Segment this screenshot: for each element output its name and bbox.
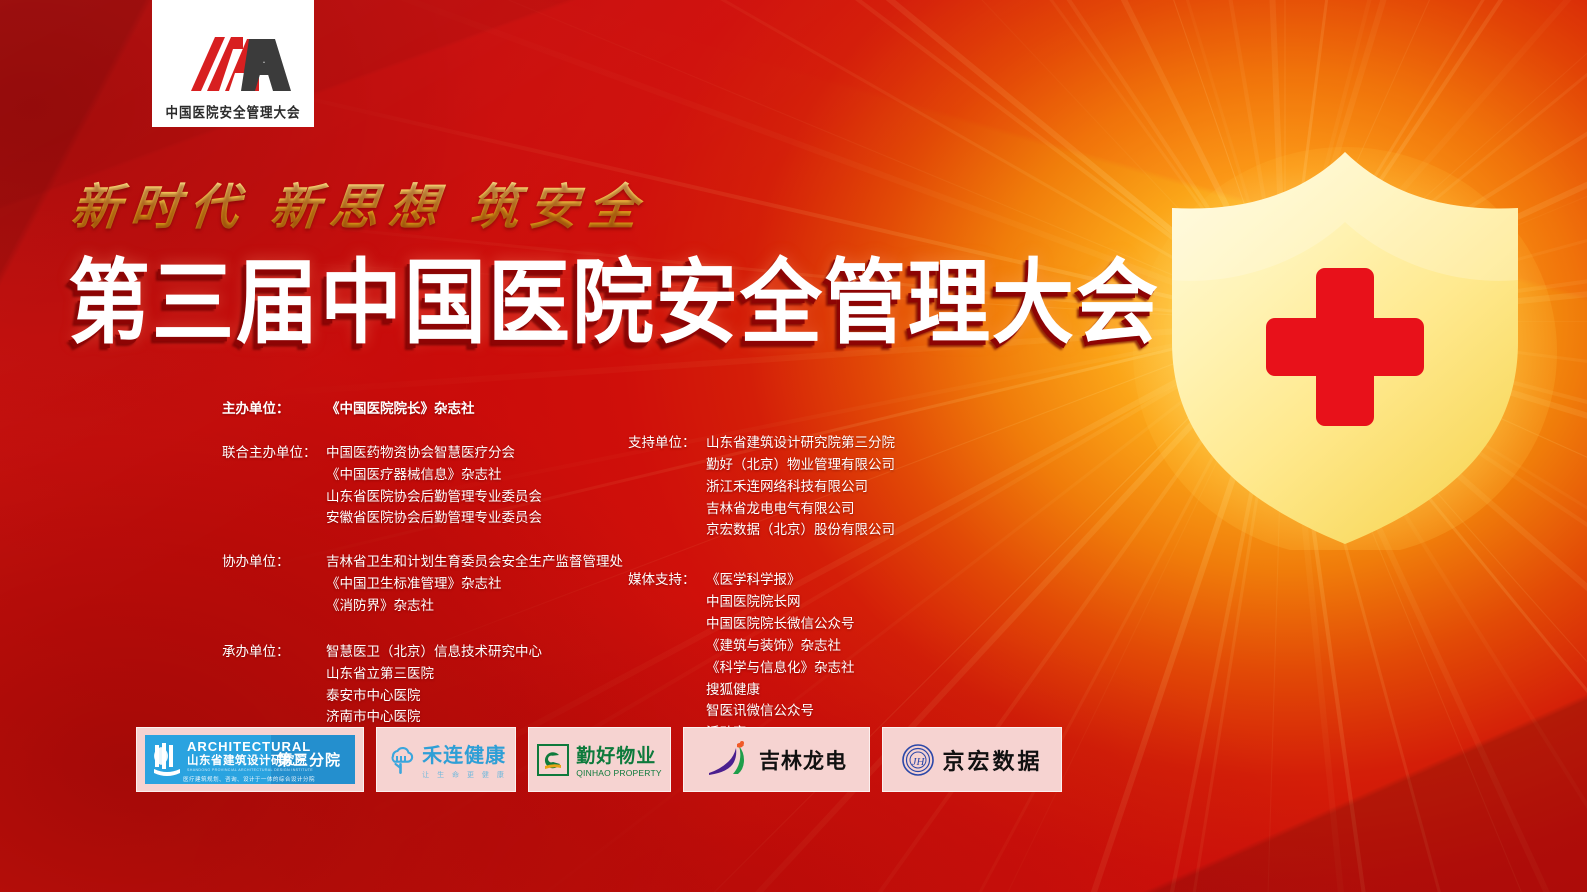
credit-value: 中国医院院长微信公众号 bbox=[706, 613, 968, 635]
credit-value: 《中国卫生标准管理》杂志社 bbox=[326, 573, 642, 595]
credit-row: 媒体支持：《医学科学报》中国医院院长网中国医院院长微信公众号《建筑与装饰》杂志社… bbox=[628, 569, 968, 744]
credit-value: 浙江禾连网络科技有限公司 bbox=[706, 476, 968, 498]
conference-logo-caption: 中国医院安全管理大会 bbox=[165, 101, 300, 122]
credit-label: 协办单位： bbox=[222, 551, 326, 573]
cloud-tree-icon bbox=[385, 743, 415, 777]
qinhao-property-name: 勤好物业 bbox=[576, 741, 662, 768]
banner-title: 第三届中国医院安全管理大会 bbox=[68, 228, 1160, 361]
credit-block: 媒体支持：《医学科学报》中国医院院长网中国医院院长微信公众号《建筑与装饰》杂志社… bbox=[628, 569, 968, 744]
credit-value: 智慧医卫（北京）信息技术研究中心 bbox=[326, 641, 642, 663]
credit-values: 智慧医卫（北京）信息技术研究中心山东省立第三医院泰安市中心医院济南市中心医院 bbox=[326, 641, 642, 728]
credit-label: 支持单位： bbox=[628, 432, 706, 454]
credits-right-column: 支持单位：山东省建筑设计研究院第三分院勤好（北京）物业管理有限公司浙江禾连网络科… bbox=[628, 432, 968, 762]
credit-value: 京宏数据（北京）股份有限公司 bbox=[706, 519, 968, 541]
credit-value: 搜狐健康 bbox=[706, 679, 968, 701]
sponsor-logo-qinhao-property: 勤好物业 QINHAO PROPERTY bbox=[528, 727, 671, 792]
credit-value: 泰安市中心医院 bbox=[326, 685, 642, 707]
credit-block: 承办单位：智慧医卫（北京）信息技术研究中心山东省立第三医院泰安市中心医院济南市中… bbox=[222, 641, 642, 728]
credit-value: 山东省医院协会后勤管理专业委员会 bbox=[326, 486, 642, 508]
credit-value: 济南市中心医院 bbox=[326, 706, 642, 728]
jilin-longdian-name: 吉林龙电 bbox=[759, 745, 847, 775]
credit-value: 《建筑与装饰》杂志社 bbox=[706, 635, 968, 657]
credit-row: 支持单位：山东省建筑设计研究院第三分院勤好（北京）物业管理有限公司浙江禾连网络科… bbox=[628, 432, 968, 541]
svg-text:第三分院: 第三分院 bbox=[277, 751, 341, 769]
credit-block: 支持单位：山东省建筑设计研究院第三分院勤好（北京）物业管理有限公司浙江禾连网络科… bbox=[628, 432, 968, 541]
credit-values: 《医学科学报》中国医院院长网中国医院院长微信公众号《建筑与装饰》杂志社《科学与信… bbox=[706, 569, 968, 744]
credit-row: 联合主办单位：中国医药物资协会智慧医疗分会《中国医疗器械信息》杂志社山东省医院协… bbox=[222, 442, 642, 529]
credit-label: 联合主办单位： bbox=[222, 442, 326, 464]
phoenix-mark-icon bbox=[706, 740, 752, 780]
jinghong-data-name: 京宏数据 bbox=[942, 744, 1042, 776]
credit-block: 主办单位：《中国医院院长》杂志社 bbox=[222, 398, 642, 420]
credits-left-column: 主办单位：《中国医院院长》杂志社联合主办单位：中国医药物资协会智慧医疗分会《中国… bbox=[222, 398, 642, 746]
jh-monogram-icon: JH bbox=[901, 743, 935, 777]
credit-block: 协办单位：吉林省卫生和计划生育委员会安全生产监督管理处《中国卫生标准管理》杂志社… bbox=[222, 551, 642, 617]
credit-values: 中国医药物资协会智慧医疗分会《中国医疗器械信息》杂志社山东省医院协会后勤管理专业… bbox=[326, 442, 642, 529]
credit-row: 承办单位：智慧医卫（北京）信息技术研究中心山东省立第三医院泰安市中心医院济南市中… bbox=[222, 641, 642, 728]
conference-banner: 中国医院安全管理大会 新时代 新思想 筑安全 第三届中国医院安全管理大会 主办单… bbox=[0, 0, 1587, 892]
credit-value: 中国医药物资协会智慧医疗分会 bbox=[326, 442, 642, 464]
sponsor-logo-strip: ARCHITECTURAL 山东省建筑设计研究院 SHANDONG PROVIN… bbox=[136, 727, 1062, 792]
credit-value: 《中国医疗器械信息》杂志社 bbox=[326, 464, 642, 486]
svg-text:JH: JH bbox=[912, 756, 926, 768]
conference-logo-badge: 中国医院安全管理大会 bbox=[152, 0, 314, 127]
credit-value: 《医学科学报》 bbox=[706, 569, 968, 591]
credit-values: 吉林省卫生和计划生育委员会安全生产监督管理处《中国卫生标准管理》杂志社《消防界》… bbox=[326, 551, 642, 617]
architectural-institute-icon: ARCHITECTURAL 山东省建筑设计研究院 SHANDONG PROVIN… bbox=[145, 735, 355, 784]
helian-health-slogan: 让 生 命 更 健 康 bbox=[422, 770, 507, 780]
sponsor-logo-shandong-architectural: ARCHITECTURAL 山东省建筑设计研究院 SHANDONG PROVIN… bbox=[136, 727, 364, 792]
credit-value: 山东省建筑设计研究院第三分院 bbox=[706, 432, 968, 454]
qinhao-mark-icon bbox=[537, 744, 569, 776]
credit-value: 《中国医院院长》杂志社 bbox=[326, 398, 642, 420]
credit-value: 安徽省医院协会后勤管理专业委员会 bbox=[326, 507, 642, 529]
sponsor-logo-jilin-longdian: 吉林龙电 bbox=[683, 727, 870, 792]
credit-value: 吉林省龙电电气有限公司 bbox=[706, 498, 968, 520]
credit-value: 吉林省卫生和计划生育委员会安全生产监督管理处 bbox=[326, 551, 642, 573]
credit-value: 勤好（北京）物业管理有限公司 bbox=[706, 454, 968, 476]
credit-label: 主办单位： bbox=[222, 398, 326, 420]
credit-value: 智医讯微信公众号 bbox=[706, 700, 968, 722]
credit-value: 《消防界》杂志社 bbox=[326, 595, 642, 617]
credit-value: 中国医院院长网 bbox=[706, 591, 968, 613]
qinhao-property-name-en: QINHAO PROPERTY bbox=[576, 768, 662, 778]
credit-values: 《中国医院院长》杂志社 bbox=[326, 398, 642, 420]
sponsor-logo-jinghong-data: JH 京宏数据 bbox=[882, 727, 1062, 792]
helian-health-name: 禾连健康 bbox=[422, 739, 507, 768]
credit-label: 承办单位： bbox=[222, 641, 326, 663]
credit-row: 协办单位：吉林省卫生和计划生育委员会安全生产监督管理处《中国卫生标准管理》杂志社… bbox=[222, 551, 642, 617]
shield-with-red-cross-icon bbox=[1130, 130, 1560, 550]
aa-monogram-icon bbox=[163, 27, 303, 99]
credit-value: 山东省立第三医院 bbox=[326, 663, 642, 685]
credit-value: 《科学与信息化》杂志社 bbox=[706, 657, 968, 679]
svg-text:医疗建筑规划、咨询、设计于一体的综合设计分院: 医疗建筑规划、咨询、设计于一体的综合设计分院 bbox=[183, 775, 315, 783]
credit-row: 主办单位：《中国医院院长》杂志社 bbox=[222, 398, 642, 420]
credit-label: 媒体支持： bbox=[628, 569, 706, 591]
svg-text:ARCHITECTURAL: ARCHITECTURAL bbox=[187, 739, 311, 754]
credit-values: 山东省建筑设计研究院第三分院勤好（北京）物业管理有限公司浙江禾连网络科技有限公司… bbox=[706, 432, 968, 541]
credit-block: 联合主办单位：中国医药物资协会智慧医疗分会《中国医疗器械信息》杂志社山东省医院协… bbox=[222, 442, 642, 529]
sponsor-logo-helian-health: 禾连健康 让 生 命 更 健 康 bbox=[376, 727, 516, 792]
